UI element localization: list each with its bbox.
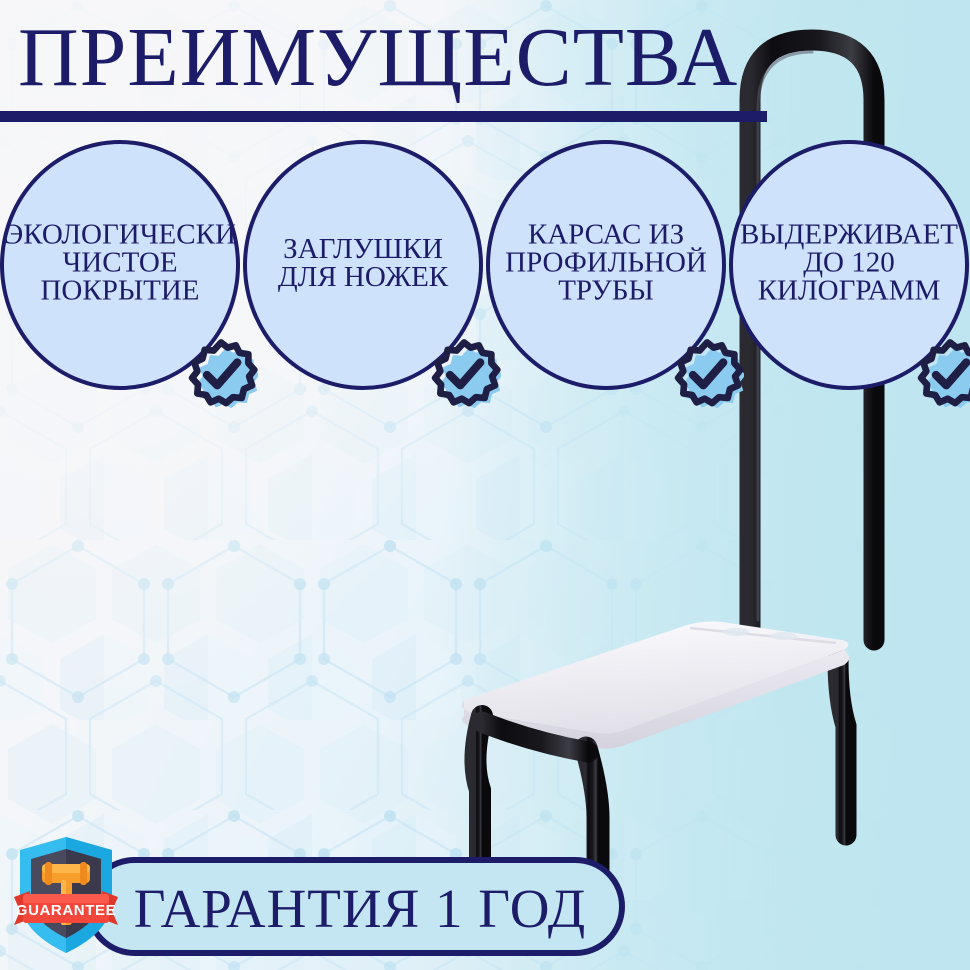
feature-label-line: КИЛОГРАММ [711, 277, 970, 305]
guarantee-shield-hammer-icon: GUARANTEE [12, 833, 120, 957]
feature-foot-caps[interactable]: ЗАГЛУШКИ ДЛЯ НОЖЕК [243, 140, 483, 390]
guarantee-badge-text: GUARANTEE [16, 902, 116, 919]
feature-profile-tube-frame[interactable]: КАРСАС ИЗ ПРОФИЛЬНОЙ ТРУБЫ [486, 140, 726, 390]
guarantee-label: ГАРАНТИЯ 1 ГОД [125, 860, 595, 956]
feature-label: ЭКОЛОГИЧЕСКИ ЧИСТОЕ ПОКРЫТИЕ [0, 222, 258, 305]
feature-label-line: ПРОФИЛЬНОЙ [468, 249, 744, 277]
feature-label-line: ВЫДЕРЖИВАЕТ [711, 222, 970, 250]
feature-label-line: ПОКРЫТИЕ [0, 277, 258, 305]
check-badge-icon [913, 338, 970, 412]
feature-label: ВЫДЕРЖИВАЕТ ДО 120 КИЛОГРАММ [711, 222, 970, 305]
feature-label-line: ДО 120 [711, 249, 970, 277]
feature-label-line: ЧИСТОЕ [0, 249, 258, 277]
feature-label: КАРСАС ИЗ ПРОФИЛЬНОЙ ТРУБЫ [468, 222, 744, 305]
feature-label-line: ДЛЯ НОЖЕК [225, 264, 501, 292]
page-title: ПРЕИМУЩЕСТВА [18, 16, 738, 100]
feature-eco-coating[interactable]: ЭКОЛОГИЧЕСКИ ЧИСТОЕ ПОКРЫТИЕ [0, 140, 240, 390]
title-underline-rule [0, 111, 767, 122]
feature-label-line: ТРУБЫ [468, 277, 744, 305]
feature-label-line: ЗАГЛУШКИ [225, 236, 501, 264]
feature-load-capacity[interactable]: ВЫДЕРЖИВАЕТ ДО 120 КИЛОГРАММ [729, 140, 969, 390]
infographic-canvas: ПРЕИМУЩЕСТВА ЭКОЛОГИЧЕСКИ ЧИСТОЕ ПОКРЫТИ… [0, 0, 970, 970]
feature-label-line: КАРСАС ИЗ [468, 222, 744, 250]
feature-label: ЗАГЛУШКИ ДЛЯ НОЖЕК [225, 236, 501, 292]
feature-label-line: ЭКОЛОГИЧЕСКИ [0, 222, 258, 250]
